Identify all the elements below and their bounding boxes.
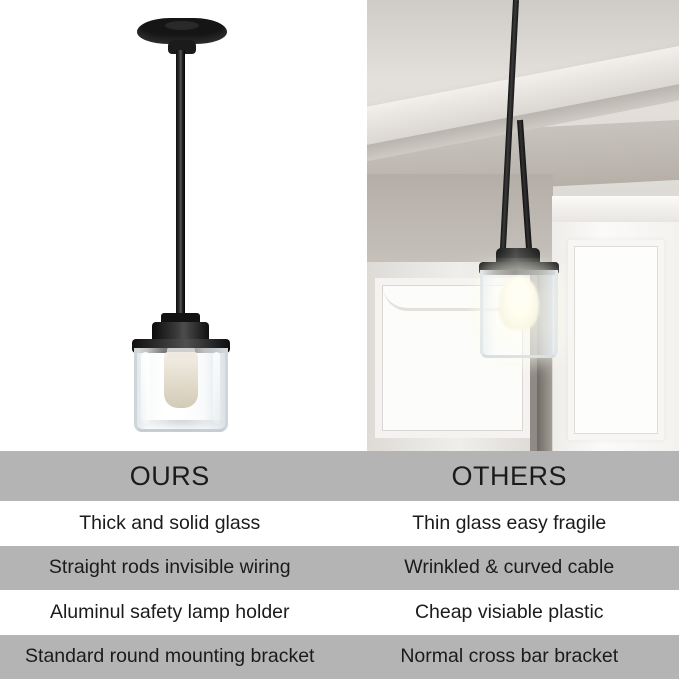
product-photo-ours (0, 0, 367, 451)
cell-ours-2: Straight rods invisible wiring (0, 546, 340, 591)
light-bulb (164, 352, 198, 408)
cell-ours-1: Thick and solid glass (0, 501, 340, 546)
cell-others-1: Thin glass easy fragile (340, 501, 679, 546)
header-ours: OURS (0, 451, 340, 501)
table-row: Standard round mounting bracket Normal c… (0, 635, 679, 679)
straight-rod (176, 50, 185, 318)
table-row: Aluminul safety lamp holder Cheap visiab… (0, 590, 679, 635)
glass-highlight-left (141, 352, 150, 424)
table-header-row: OURS OTHERS (0, 451, 679, 501)
table-row: Straight rods invisible wiring Wrinkled … (0, 546, 679, 591)
cell-ours-4: Standard round mounting bracket (0, 635, 340, 679)
cell-others-2: Wrinkled & curved cable (340, 546, 679, 591)
cell-ours-3: Aluminul safety lamp holder (0, 590, 340, 635)
cell-others-4: Normal cross bar bracket (340, 635, 679, 679)
comparison-table: OURS OTHERS Thick and solid glass Thin g… (0, 451, 679, 679)
header-others: OTHERS (340, 451, 679, 501)
cabinet-right-door (568, 240, 664, 440)
cell-others-3: Cheap visiable plastic (340, 590, 679, 635)
glass-highlight-right (213, 352, 220, 424)
product-photo-others (367, 0, 679, 451)
table-row: Thick and solid glass Thin glass easy fr… (0, 501, 679, 546)
comparison-infographic: OURS OTHERS Thick and solid glass Thin g… (0, 0, 679, 679)
image-section (0, 0, 679, 451)
lit-light-bulb (499, 276, 539, 330)
